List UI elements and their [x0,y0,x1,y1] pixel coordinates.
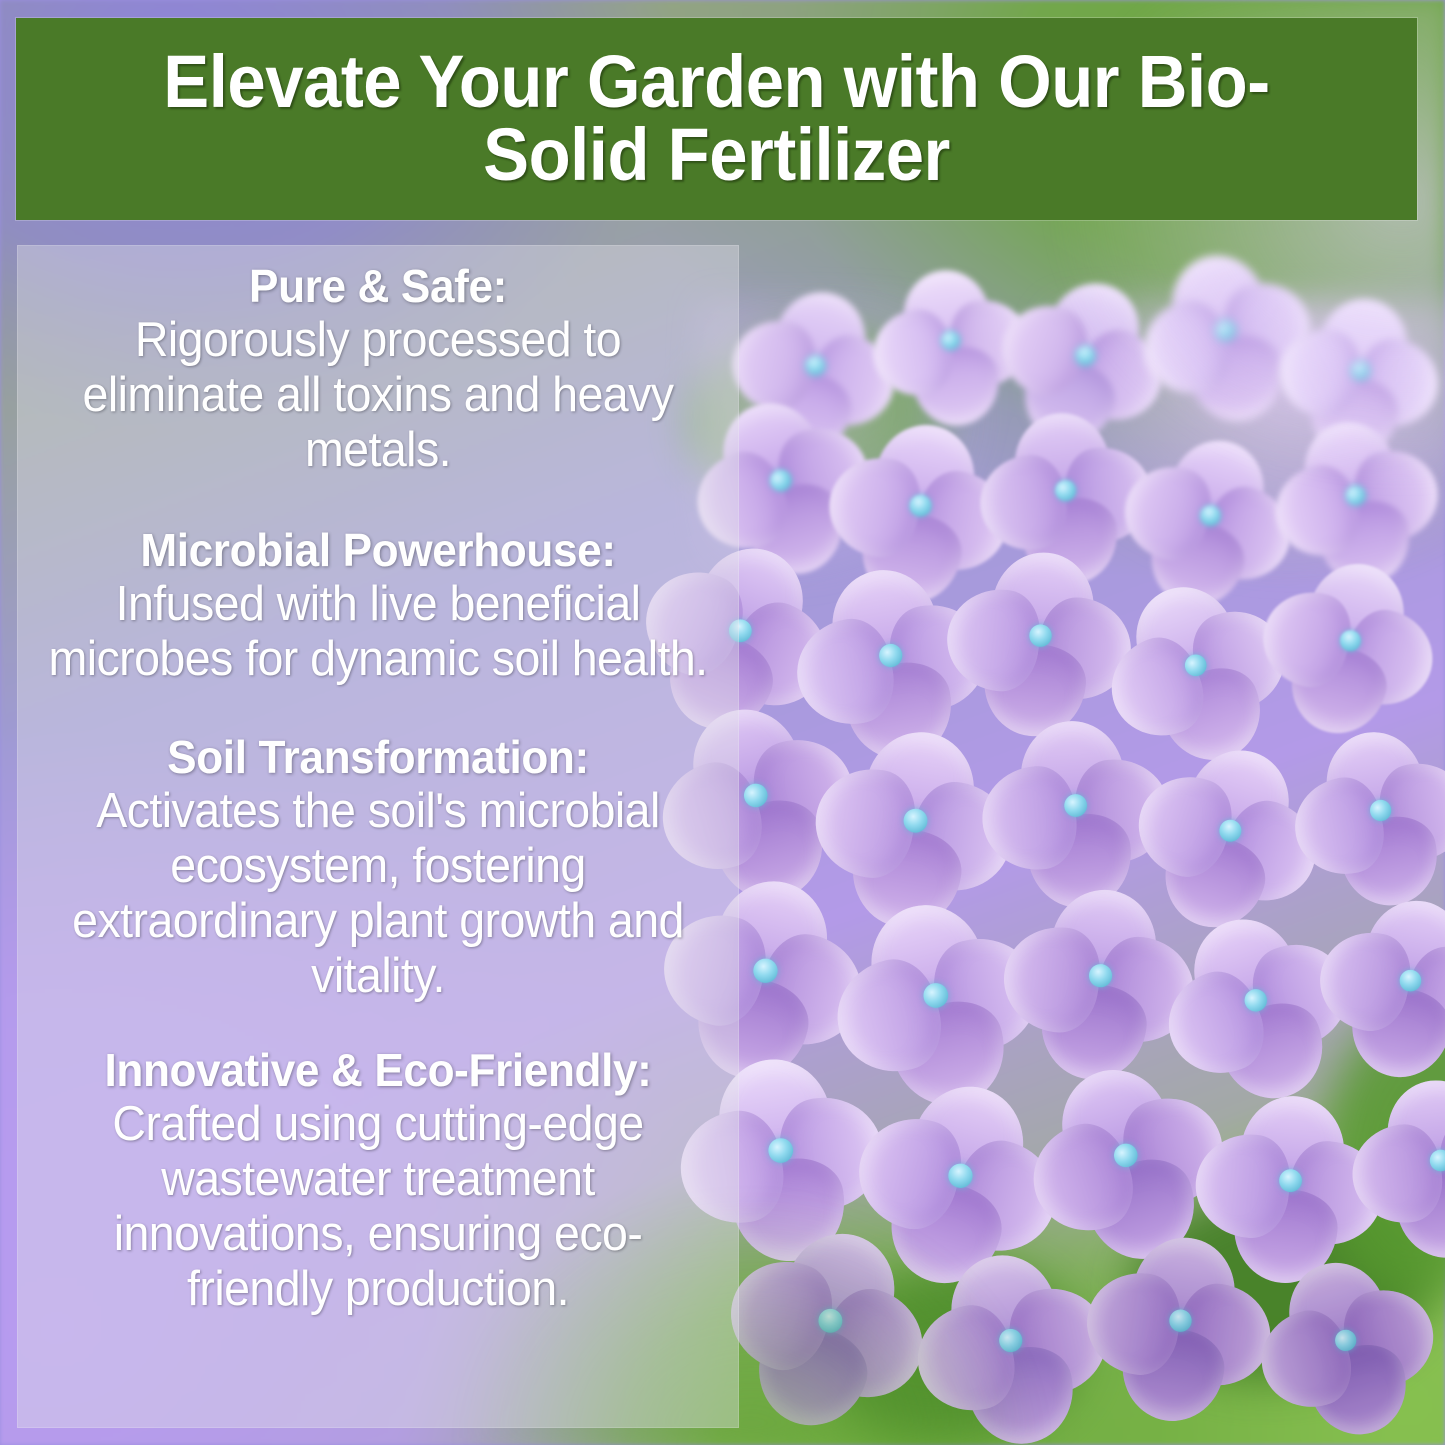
feature-body: Activates the soil's microbial ecosystem… [47,784,708,1004]
features-panel: Pure & Safe: Rigorously processed to eli… [17,245,739,1428]
feature-heading: Microbial Powerhouse: [44,524,712,577]
feature-heading: Pure & Safe: [44,260,712,313]
feature-heading: Innovative & Eco-Friendly: [44,1044,712,1097]
feature-body: Crafted using cutting-edge wastewater tr… [47,1097,708,1317]
feature-block: Microbial Powerhouse: Infused with live … [30,524,726,687]
feature-heading: Soil Transformation: [44,731,712,784]
feature-body: Rigorously processed to eliminate all to… [47,313,708,478]
feature-block: Innovative & Eco-Friendly: Crafted using… [30,1044,726,1317]
feature-block: Soil Transformation: Activates the soil'… [30,731,726,1004]
feature-body: Infused with live beneficial microbes fo… [47,577,708,687]
feature-block: Pure & Safe: Rigorously processed to eli… [30,260,726,478]
poster: Elevate Your Garden with Our Bio-Solid F… [0,0,1445,1445]
page-title: Elevate Your Garden with Our Bio-Solid F… [91,46,1342,191]
title-banner: Elevate Your Garden with Our Bio-Solid F… [16,18,1417,220]
